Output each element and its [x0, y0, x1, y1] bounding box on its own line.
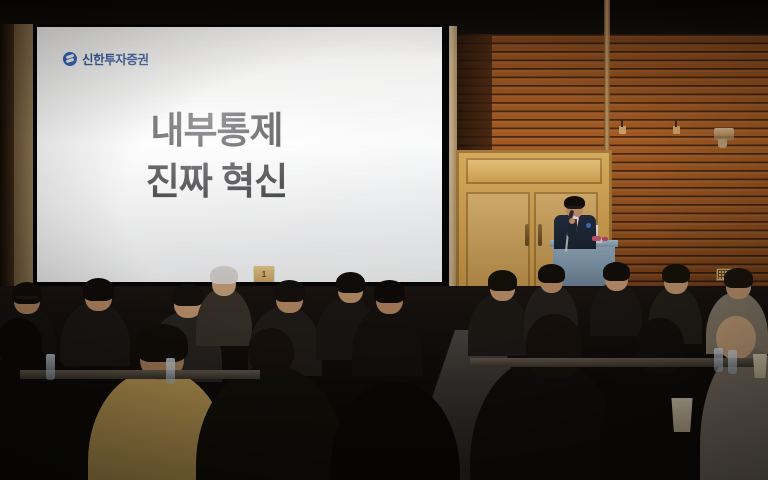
attendee-hair [83, 278, 114, 301]
attendee-body [196, 288, 252, 346]
attendee-hair [374, 280, 405, 303]
attendee-hair [336, 272, 365, 293]
water-bottle [728, 350, 737, 374]
speaker-hand [569, 218, 575, 224]
speaker-badge [586, 223, 591, 228]
wall-hook-stem-icon [675, 119, 677, 127]
water-bottle [46, 354, 55, 380]
podium-papers [602, 237, 608, 241]
wall-hook-icon [673, 126, 680, 134]
attendee-hair [488, 270, 517, 291]
attendee-hair [538, 264, 565, 283]
slide-title: 내부통제 진짜 혁신 [37, 105, 442, 207]
conference-photo: 신한투자증권 내부통제 진짜 혁신 1 [0, 0, 768, 480]
water-bottle [166, 358, 175, 384]
coffee-cup [670, 398, 694, 432]
water-bottle [714, 348, 723, 372]
attendee-glasses-icon [16, 296, 38, 299]
attendee-body [196, 366, 346, 480]
slide-title-line1: 내부통제 [150, 110, 282, 151]
attendee-body [468, 294, 530, 356]
attendee-hair [12, 282, 42, 304]
table-number-card: 1 [254, 266, 274, 282]
projection-screen: 신한투자증권 내부통제 진짜 혁신 [37, 27, 442, 282]
attendee-hair [603, 262, 630, 281]
wall-speaker-horn-icon [718, 139, 727, 148]
attendee-hair [662, 264, 690, 283]
table [20, 370, 260, 379]
door-handle-right-icon[interactable] [538, 224, 542, 246]
attendee-hair [210, 266, 238, 284]
podium-papers [592, 236, 601, 241]
attendee-hair [724, 268, 753, 288]
wall-hook-stem-icon [621, 119, 623, 127]
attendee-hair [136, 324, 188, 362]
shinhan-logo-mark-icon [63, 52, 77, 66]
speaker-glasses-icon [567, 206, 582, 209]
door-handle-left-icon[interactable] [525, 224, 529, 246]
attendee-body [60, 302, 130, 366]
slide-logo: 신한투자증권 [63, 49, 149, 68]
attendee-long-hair [526, 314, 582, 378]
audience [0, 262, 768, 480]
coffee-cup [752, 354, 768, 378]
slide-logo-text: 신한투자증권 [82, 49, 149, 68]
attendee-body [330, 382, 460, 480]
slide-title-line2: 진짜 혁신 [37, 156, 396, 207]
attendee-hair [274, 280, 305, 302]
door-transom-panel [466, 158, 602, 184]
wall-hook-icon [619, 126, 626, 134]
attendee-hair [172, 284, 204, 306]
